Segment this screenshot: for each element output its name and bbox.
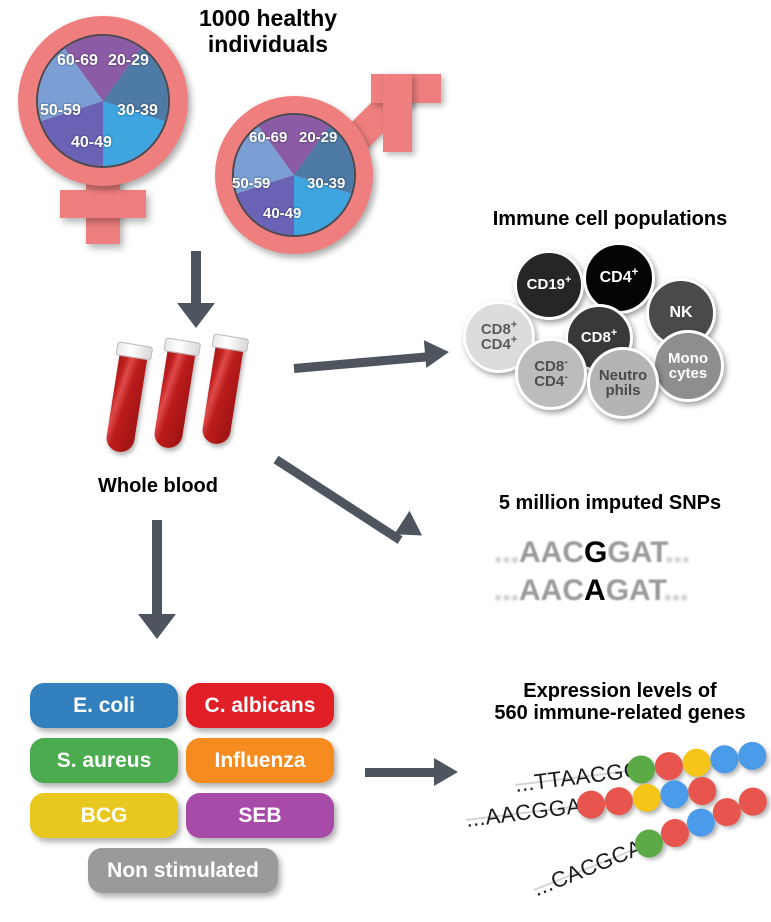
blood-tube-2: [153, 347, 196, 450]
stimulus-e-coli[interactable]: E. coli: [30, 683, 178, 728]
female-symbol: 20-29 30-39 40-49 50-59 60-69: [14, 12, 194, 242]
male-pie-label-40-49: 40-49: [263, 205, 301, 222]
cohort-heading-line1: 1000 healthy: [168, 6, 368, 32]
expression-heading: Expression levels of 560 immune-related …: [470, 680, 770, 725]
dna-bead: [737, 740, 768, 771]
immune-cell-cd19: CD19+: [514, 250, 584, 320]
snp1-dots-left: ...: [494, 536, 519, 569]
expression-heading-line2: 560 immune-related genes: [470, 702, 770, 724]
cd8-label: CD8: [581, 329, 611, 346]
snp1-dots-right: ...: [665, 536, 690, 569]
expression-heading-line1: Expression levels of: [470, 680, 770, 702]
immune-cell-neutrophils: Neutro phils: [587, 347, 659, 419]
cd8pcd4p-line2: CD4: [481, 336, 511, 353]
cd8ncd4n-sup1: -: [564, 356, 568, 368]
female-pie-label-40-49: 40-49: [71, 134, 112, 152]
cd8ncd4n-sup2: -: [564, 371, 568, 383]
immune-cell-heading: Immune cell populations: [455, 208, 765, 230]
stimulus-non-stimulated[interactable]: Non stimulated: [88, 848, 278, 893]
immune-cell-cd4: CD4+: [583, 242, 655, 314]
snp1-variant: G: [584, 536, 607, 569]
figure-canvas: 1000 healthy individuals 20-29 30-39 40-…: [0, 0, 771, 922]
nk-label: NK: [669, 305, 692, 321]
snp-sequence-row-1: ...AACGGAT...: [494, 536, 690, 570]
stimulus-s-aureus[interactable]: S. aureus: [30, 738, 178, 783]
cd4-superscript: +: [632, 267, 639, 279]
stimulus-influenza[interactable]: Influenza: [186, 738, 334, 783]
dna-bead: [709, 744, 740, 775]
dna-sequence-2: ...AACGGAT: [464, 791, 594, 832]
female-stem-cross: [60, 190, 146, 218]
blood-tube-1: [105, 351, 148, 454]
female-pie-label-60-69: 60-69: [57, 52, 98, 70]
cd19-superscript: +: [565, 274, 571, 286]
male-pie-label-30-39: 30-39: [307, 175, 345, 192]
whole-blood-label: Whole blood: [78, 475, 238, 497]
stimulus-bcg[interactable]: BCG: [30, 793, 178, 838]
snp-heading: 5 million imputed SNPs: [460, 492, 760, 514]
female-pie-label-50-59: 50-59: [40, 102, 81, 120]
dna-bead: [653, 751, 684, 782]
snp2-left: AAC: [519, 574, 584, 607]
snp2-right: GAT: [606, 574, 664, 607]
male-pie-label-20-29: 20-29: [299, 129, 337, 146]
female-pie-label-20-29: 20-29: [108, 52, 149, 70]
neutrophils-line2: phils: [605, 382, 640, 399]
snp2-dots-left: ...: [494, 574, 519, 607]
male-pie-label-60-69: 60-69: [249, 129, 287, 146]
cd8-superscript: +: [611, 327, 617, 339]
snp2-variant: A: [584, 574, 606, 607]
snp1-right: GAT: [607, 536, 665, 569]
male-symbol: 20-29 30-39 40-49 50-59 60-69: [205, 60, 420, 255]
immune-cell-cd8-cd4-double-negative: CD8- CD4-: [515, 338, 587, 410]
cd8pcd4p-sup2: +: [511, 334, 517, 346]
cohort-heading-line2: individuals: [168, 32, 368, 58]
dna-bead: [631, 782, 662, 813]
blood-tube-3: [201, 343, 244, 446]
immune-cell-monocytes: Mono cytes: [652, 330, 724, 402]
cd8pcd4p-sup1: +: [511, 319, 517, 331]
dna-bead: [603, 786, 634, 817]
cd8ncd4n-line2: CD4: [534, 373, 564, 390]
male-arrow-flange-side: [383, 74, 412, 152]
stimuli-panel: E. coli C. albicans S. aureus Influenza …: [30, 683, 340, 898]
snp-sequence-row-2: ...AACAGAT...: [494, 574, 688, 608]
cd19-label: CD19: [527, 276, 565, 293]
immune-cell-cluster: CD19+ CD4+ NK CD8+ CD4+ CD8+ Mono cytes: [455, 242, 765, 422]
cohort-heading: 1000 healthy individuals: [168, 6, 368, 58]
stimulus-c-albicans[interactable]: C. albicans: [186, 683, 334, 728]
dna-bead: [659, 779, 690, 810]
blood-tubes: [112, 335, 287, 470]
snp2-dots-right: ...: [663, 574, 688, 607]
dna-bead: [681, 747, 712, 778]
cd4-label: CD4: [600, 269, 632, 286]
male-pie-label-50-59: 50-59: [232, 175, 270, 192]
monocytes-line2: cytes: [669, 365, 707, 382]
female-pie-label-30-39: 30-39: [117, 102, 158, 120]
snp1-left: AAC: [519, 536, 584, 569]
stimulus-seb[interactable]: SEB: [186, 793, 334, 838]
